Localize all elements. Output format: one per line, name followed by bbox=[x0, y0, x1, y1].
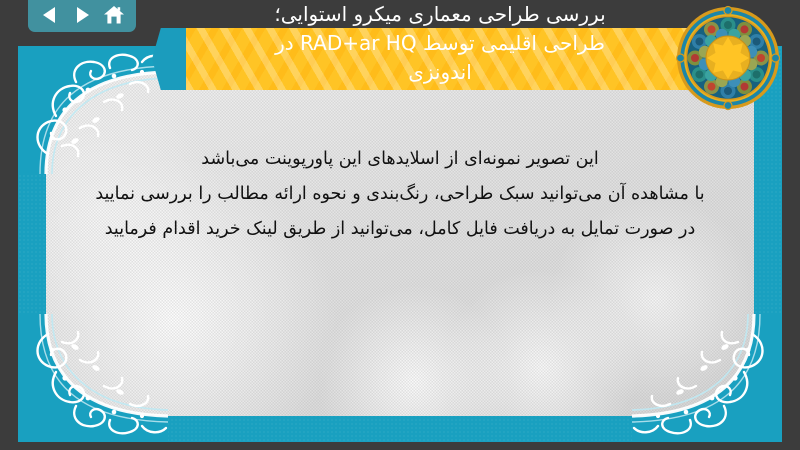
title-line-1: بررسی طراحی معماری میکرو استوایی؛ bbox=[120, 0, 760, 29]
home-icon bbox=[103, 5, 125, 25]
triangle-left-icon bbox=[40, 5, 60, 25]
slide-content-panel bbox=[46, 72, 754, 416]
triangle-right-icon bbox=[72, 5, 92, 25]
back-button[interactable] bbox=[37, 2, 63, 28]
presentation-viewer: این تصویر نمونه‌ای از اسلایدهای این پاور… bbox=[0, 0, 800, 450]
home-button[interactable] bbox=[101, 2, 127, 28]
slide-frame: این تصویر نمونه‌ای از اسلایدهای این پاور… bbox=[18, 46, 782, 442]
navigation-bar bbox=[28, 0, 136, 32]
forward-button[interactable] bbox=[69, 2, 95, 28]
persian-medallion-icon bbox=[674, 4, 782, 112]
